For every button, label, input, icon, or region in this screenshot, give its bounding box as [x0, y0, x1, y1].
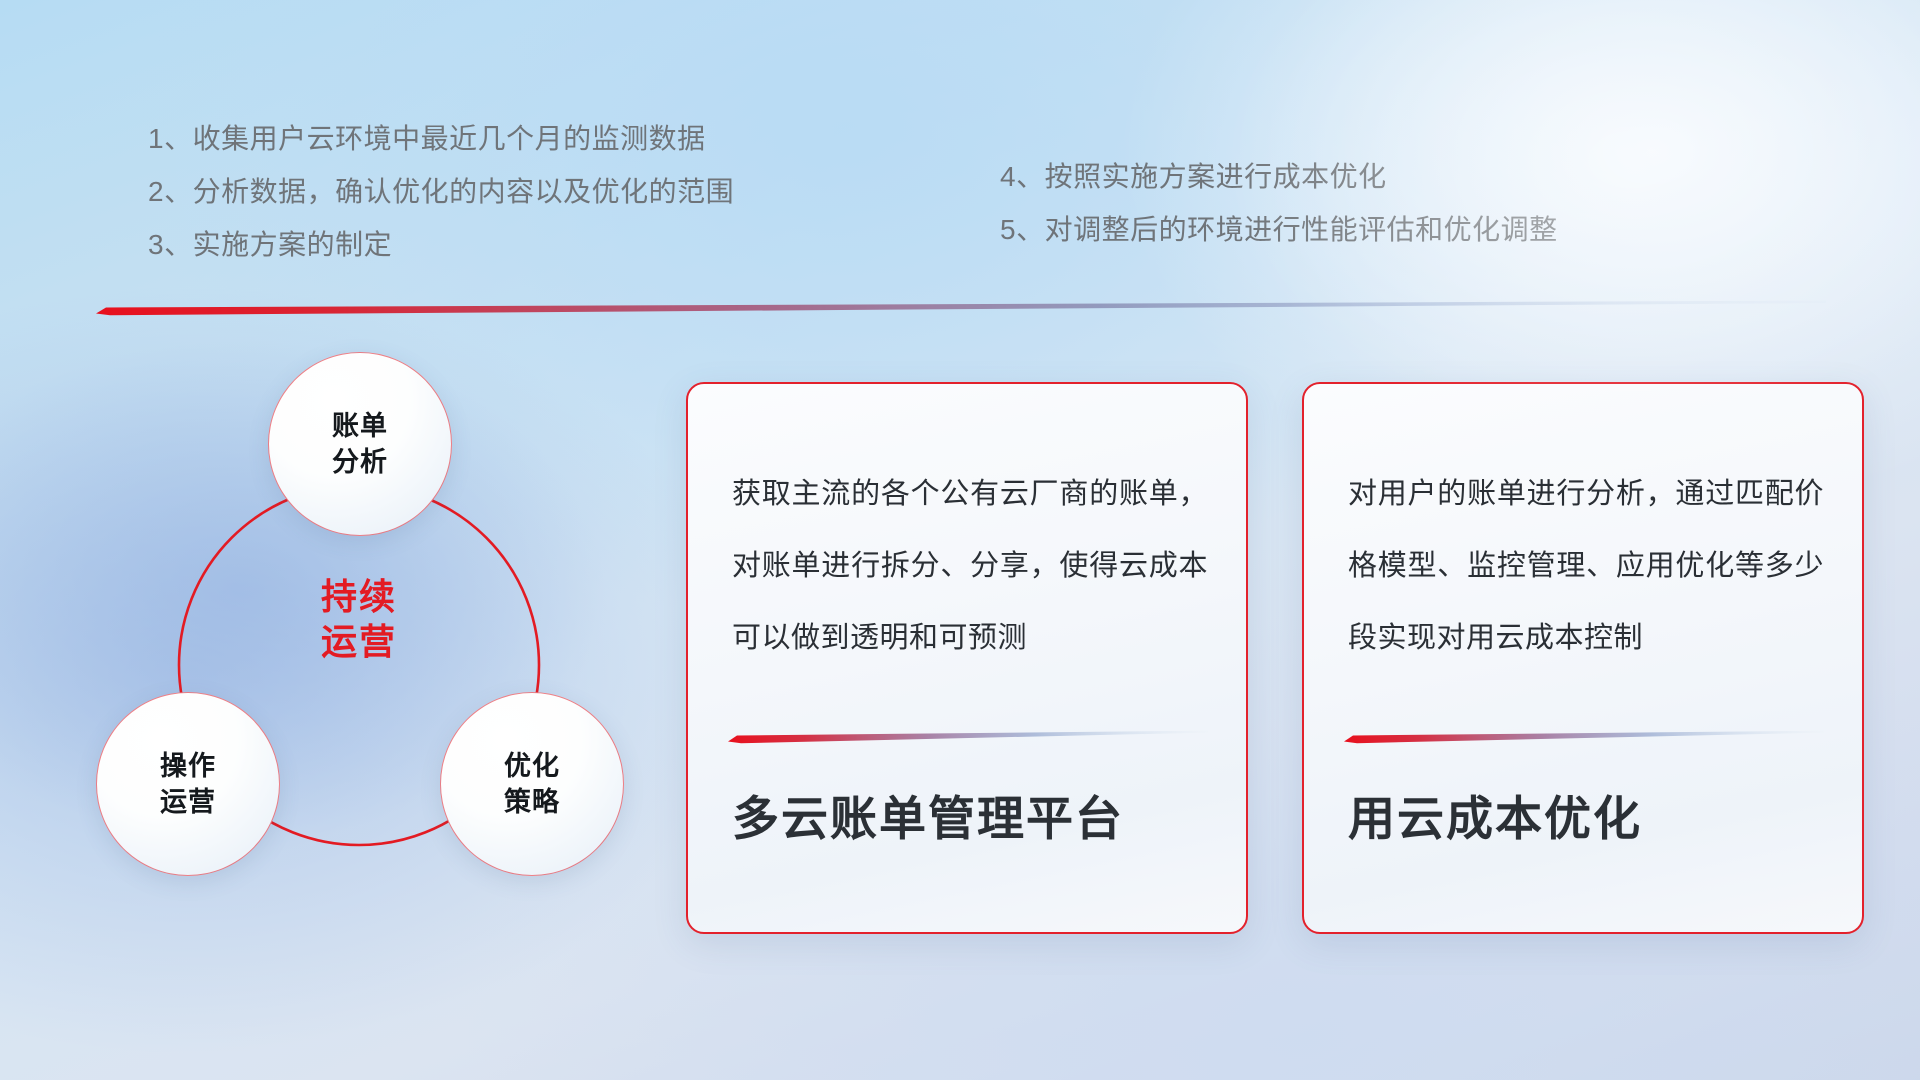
- steps-left-column: 1、收集用户云环境中最近几个月的监测数据 2、分析数据，确认优化的内容以及优化的…: [148, 112, 734, 271]
- step-item-1: 1、收集用户云环境中最近几个月的监测数据: [148, 112, 734, 165]
- center-label-line1: 持续: [261, 574, 457, 619]
- card-1-body: 获取主流的各个公有云厂商的账单，对账单进行拆分、分享，使得云成本可以做到透明和可…: [732, 458, 1208, 674]
- section-divider: [96, 300, 1826, 316]
- center-label-line2: 运营: [261, 619, 457, 664]
- steps-section: 1、收集用户云环境中最近几个月的监测数据 2、分析数据，确认优化的内容以及优化的…: [0, 112, 1920, 292]
- bubble-left-line2: 运营: [160, 784, 216, 820]
- slide-canvas: 1、收集用户云环境中最近几个月的监测数据 2、分析数据，确认优化的内容以及优化的…: [0, 0, 1920, 1080]
- diagram-center-label: 持续 运营: [261, 574, 457, 664]
- bubble-left-line1: 操作: [160, 748, 216, 784]
- card-2-title: 用云成本优化: [1348, 780, 1642, 849]
- diagram-bubble-operations[interactable]: 操作 运营: [96, 692, 280, 876]
- continuous-operation-diagram: 账单 分析 操作 运营 优化 策略 持续 运营: [96, 352, 676, 952]
- step-item-5: 5、对调整后的环境进行性能评估和优化调整: [1000, 203, 1558, 256]
- card-2-divider: [1344, 730, 1824, 744]
- card-2-divider-shape: [1344, 730, 1824, 744]
- step-item-3: 3、实施方案的制定: [148, 218, 734, 271]
- diagram-bubble-bill-analysis[interactable]: 账单 分析: [268, 352, 452, 536]
- card-1-title: 多云账单管理平台: [732, 780, 1124, 849]
- card-multi-cloud-billing[interactable]: 获取主流的各个公有云厂商的账单，对账单进行拆分、分享，使得云成本可以做到透明和可…: [686, 382, 1248, 934]
- card-2-body: 对用户的账单进行分析，通过匹配价格模型、监控管理、应用优化等多少段实现对用云成本…: [1348, 458, 1824, 674]
- steps-right-column: 4、按照实施方案进行成本优化 5、对调整后的环境进行性能评估和优化调整: [1000, 150, 1558, 256]
- bubble-right-line2: 策略: [504, 784, 560, 820]
- card-1-divider-shape: [728, 730, 1208, 744]
- bubble-top-line1: 账单: [332, 408, 388, 444]
- step-item-2: 2、分析数据，确认优化的内容以及优化的范围: [148, 165, 734, 218]
- card-cloud-cost-optimization[interactable]: 对用户的账单进行分析，通过匹配价格模型、监控管理、应用优化等多少段实现对用云成本…: [1302, 382, 1864, 934]
- diagram-bubble-optimization-strategy[interactable]: 优化 策略: [440, 692, 624, 876]
- section-divider-shape: [96, 300, 1826, 316]
- bubble-right-line1: 优化: [504, 748, 560, 784]
- step-item-4: 4、按照实施方案进行成本优化: [1000, 150, 1558, 203]
- card-1-divider: [728, 730, 1208, 744]
- bubble-top-line2: 分析: [332, 444, 388, 480]
